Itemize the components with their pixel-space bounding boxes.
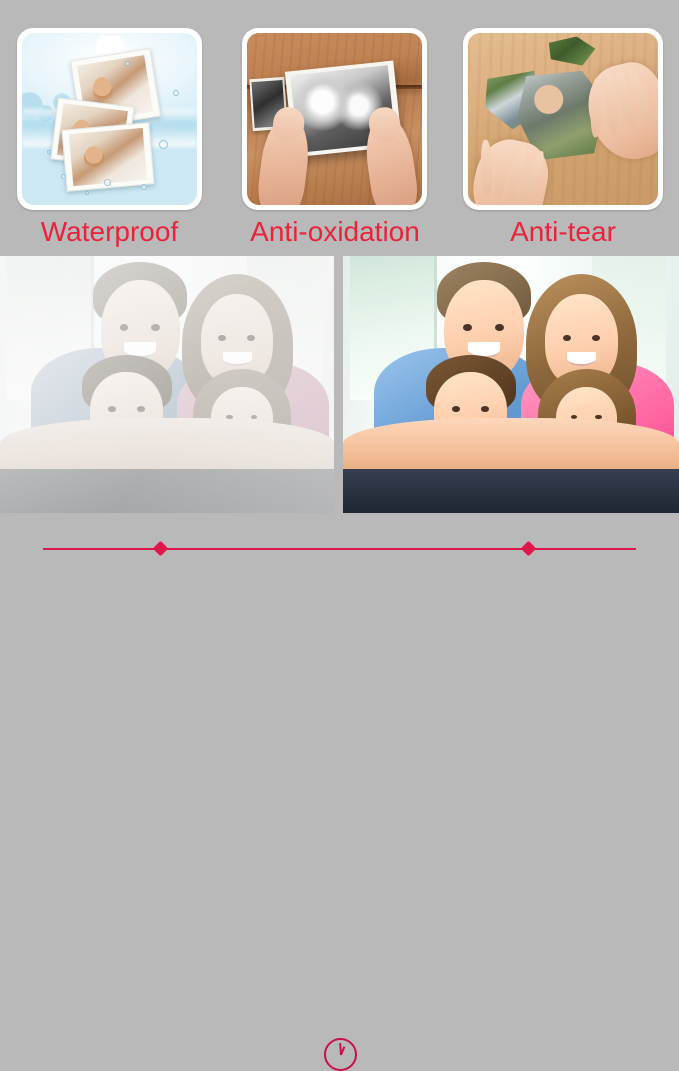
- comparison-photo-vivid: [343, 256, 679, 513]
- comparison-photo-faded: [0, 256, 334, 513]
- product-feature-page: Waterproof Anti-oxidation Anti-tear: [0, 0, 679, 583]
- eye: [481, 406, 489, 411]
- water-droplets: [22, 33, 197, 205]
- feature-card-anti-oxidation: [242, 28, 427, 210]
- smile: [567, 352, 596, 367]
- anti-oxidation-image: [247, 33, 422, 205]
- feature-label-anti-oxidation: Anti-oxidation: [236, 214, 434, 250]
- divider-line: [43, 548, 636, 550]
- feature-card-waterproof: [17, 28, 202, 210]
- eye: [463, 324, 472, 331]
- feature-label-anti-tear: Anti-tear: [463, 214, 663, 250]
- feature-cards-row: Waterproof Anti-oxidation Anti-tear: [0, 0, 679, 255]
- hand-right: [361, 113, 420, 205]
- family-portrait-vivid: [343, 256, 679, 513]
- feature-card-anti-tear: [463, 28, 663, 210]
- waterproof-image: [22, 33, 197, 205]
- fade-overlay: [0, 256, 334, 513]
- eye: [452, 406, 460, 411]
- bottom-divider: [0, 514, 679, 583]
- diamond-marker-left: [153, 541, 169, 557]
- anti-tear-image: [468, 33, 658, 205]
- clock-icon: [324, 1038, 357, 1071]
- feature-label-waterproof: Waterproof: [17, 214, 202, 250]
- eye: [495, 324, 504, 331]
- eye: [592, 335, 600, 342]
- couch: [343, 469, 679, 513]
- diamond-marker-right: [521, 541, 537, 557]
- eye: [595, 415, 602, 419]
- torn-photo-piece: [546, 36, 595, 65]
- comparison-strip: [0, 256, 679, 513]
- eye: [563, 335, 571, 342]
